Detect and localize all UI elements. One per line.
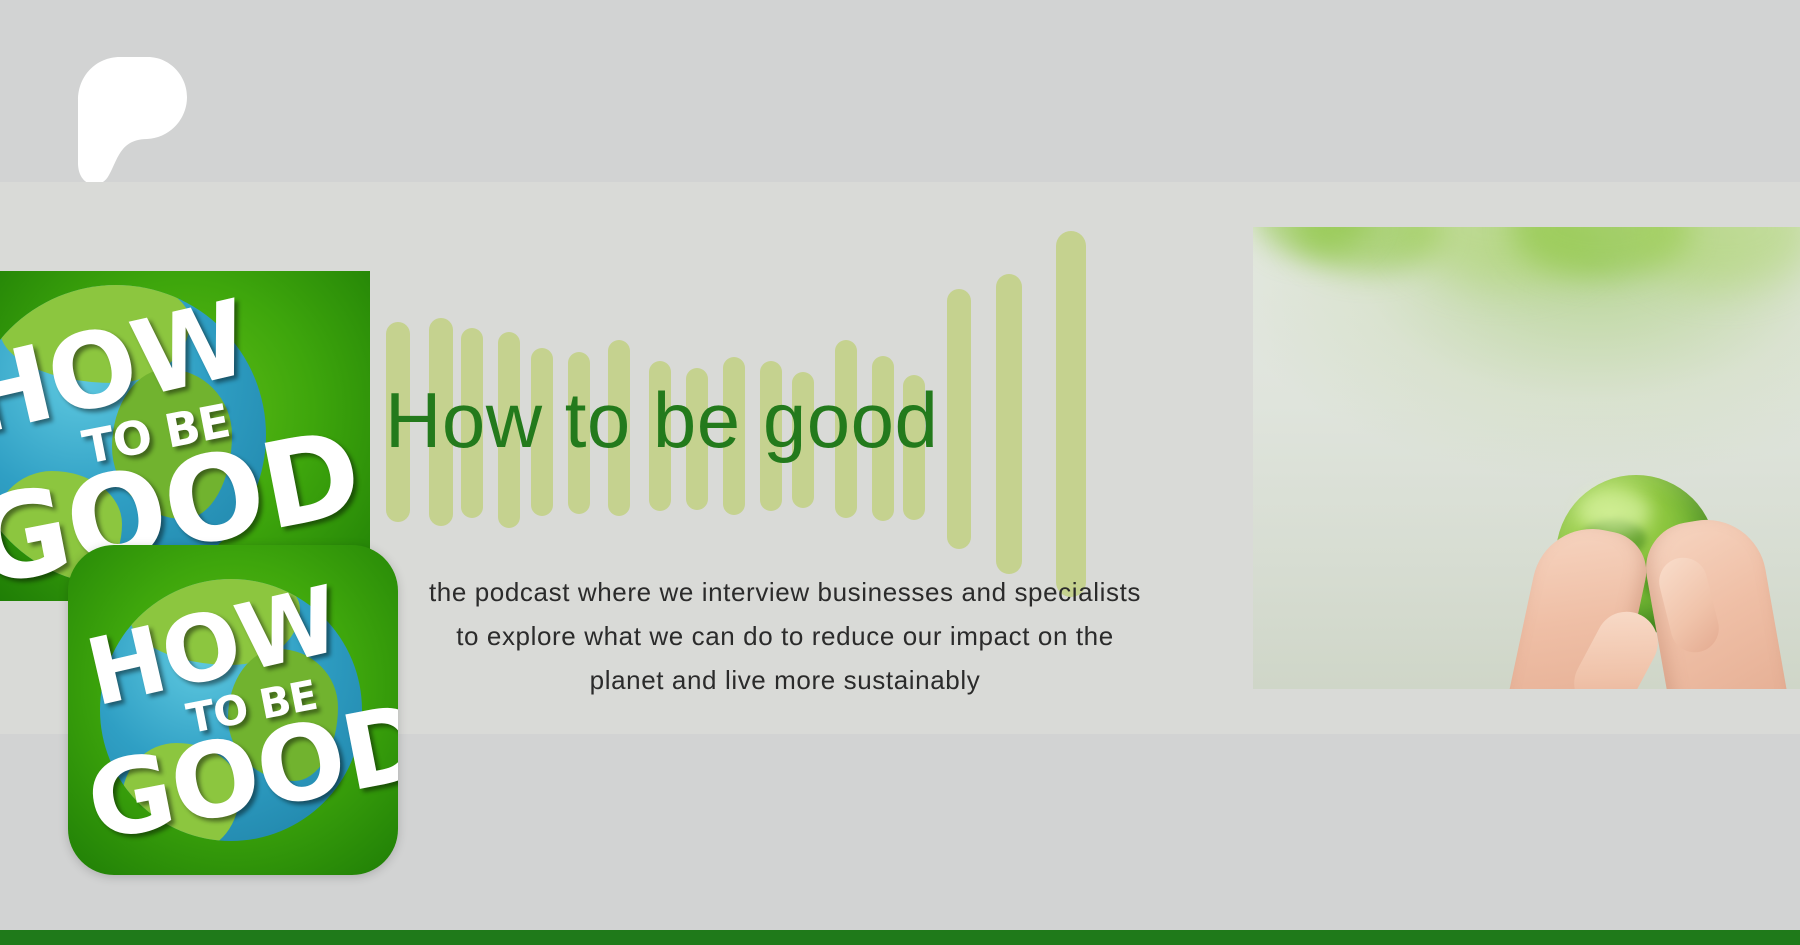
banner-subtitle: the podcast where we interview businesse… <box>330 570 1240 702</box>
waveform-bar <box>1056 231 1086 597</box>
banner-subtitle-line: planet and live more sustainably <box>330 658 1240 702</box>
bottom-accent-bar <box>0 930 1800 945</box>
hands-holding-green-globe-photo <box>1253 227 1800 689</box>
leaf-blur-icon <box>1629 227 1800 289</box>
cover-inner: HOW TO BE GOOD <box>68 545 398 875</box>
banner-title: How to be good <box>385 380 938 462</box>
banner-subtitle-line: to explore what we can do to reduce our … <box>330 614 1240 658</box>
podcast-avatar[interactable]: HOW TO BE GOOD <box>68 545 398 875</box>
waveform-bar <box>996 274 1022 574</box>
page-root: How to be good the podcast where we inte… <box>0 0 1800 945</box>
patreon-logo[interactable] <box>70 55 190 188</box>
waveform-bar <box>947 289 971 549</box>
banner-subtitle-line: the podcast where we interview businesse… <box>330 570 1240 614</box>
